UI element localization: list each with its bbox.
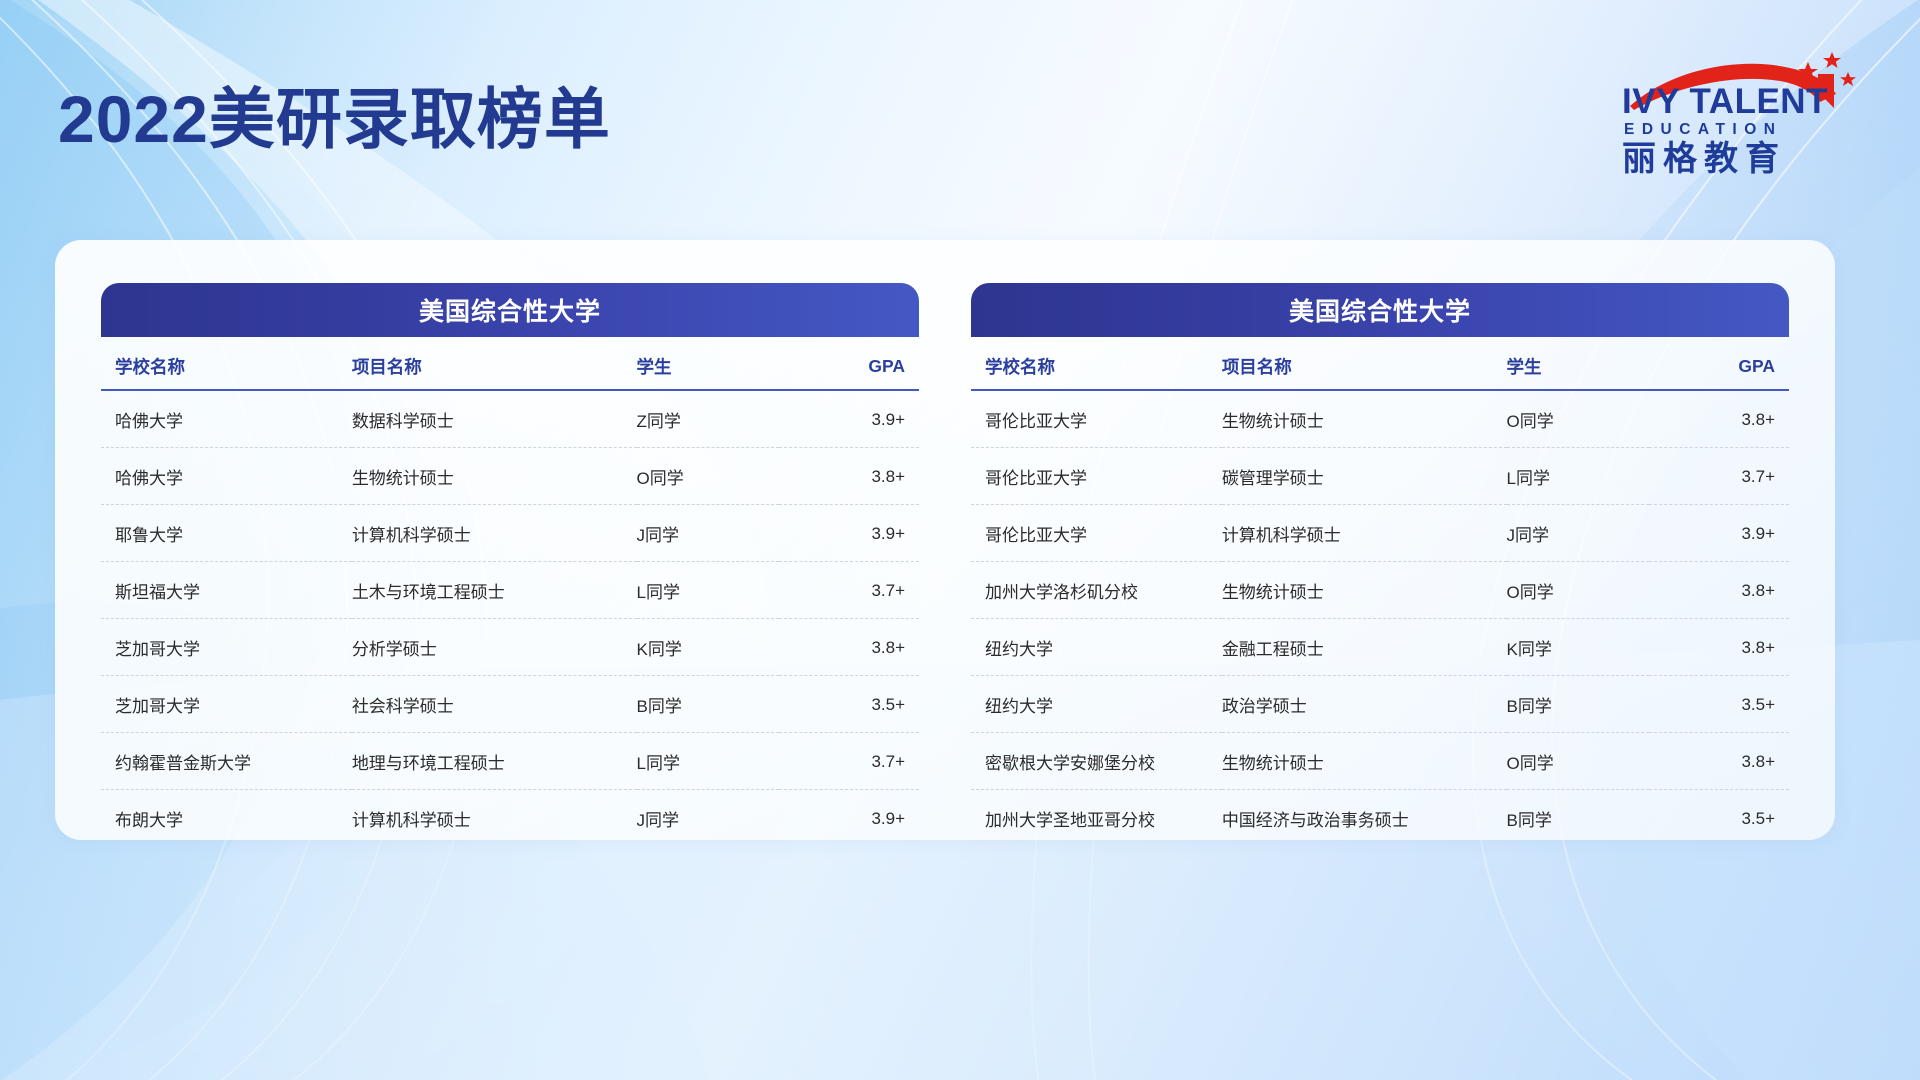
cell-student: J同学 xyxy=(1507,505,1649,562)
cell-gpa: 3.9+ xyxy=(779,790,919,847)
logo-wordmark: IVY TALENT xyxy=(1622,84,1828,119)
cell-program: 生物统计硕士 xyxy=(1222,562,1507,619)
admissions-table-right: 学校名称 项目名称 学生 GPA 哥伦比亚大学 生物统计硕士 O同学 3.8+ … xyxy=(971,337,1789,846)
cell-school: 哥伦比亚大学 xyxy=(971,390,1222,448)
column-header-program: 项目名称 xyxy=(1222,337,1507,390)
brand-logo: IVY TALENT EDUCATION 丽格教育 xyxy=(1622,48,1874,166)
cell-program: 土木与环境工程硕士 xyxy=(352,562,637,619)
cell-student: B同学 xyxy=(637,676,779,733)
cell-student: L同学 xyxy=(1507,448,1649,505)
table-row: 芝加哥大学 分析学硕士 K同学 3.8+ xyxy=(101,619,919,676)
table-header-row: 学校名称 项目名称 学生 GPA xyxy=(101,337,919,390)
cell-student: K同学 xyxy=(637,619,779,676)
cell-program: 计算机科学硕士 xyxy=(352,790,637,847)
table-row: 哈佛大学 生物统计硕士 O同学 3.8+ xyxy=(101,448,919,505)
cell-program: 中国经济与政治事务硕士 xyxy=(1222,790,1507,847)
table-card-right: 美国综合性大学 学校名称 项目名称 学生 GPA 哥伦比亚大学 生物统计硕士 O… xyxy=(971,283,1789,846)
cell-student: O同学 xyxy=(1507,733,1649,790)
cell-gpa: 3.8+ xyxy=(1649,390,1789,448)
table-row: 哥伦比亚大学 碳管理学硕士 L同学 3.7+ xyxy=(971,448,1789,505)
cell-gpa: 3.8+ xyxy=(779,448,919,505)
cell-school: 纽约大学 xyxy=(971,676,1222,733)
cell-student: K同学 xyxy=(1507,619,1649,676)
cell-gpa: 3.7+ xyxy=(1649,448,1789,505)
cell-program: 政治学硕士 xyxy=(1222,676,1507,733)
cell-gpa: 3.9+ xyxy=(779,390,919,448)
cell-gpa: 3.8+ xyxy=(1649,619,1789,676)
cell-program: 分析学硕士 xyxy=(352,619,637,676)
cell-school: 哥伦比亚大学 xyxy=(971,505,1222,562)
cell-program: 数据科学硕士 xyxy=(352,390,637,448)
column-header-student: 学生 xyxy=(637,337,779,390)
cell-school: 密歇根大学安娜堡分校 xyxy=(971,733,1222,790)
page-title: 2022美研录取榜单 xyxy=(58,86,611,152)
cell-school: 加州大学洛杉矶分校 xyxy=(971,562,1222,619)
table-row: 密歇根大学安娜堡分校 生物统计硕士 O同学 3.8+ xyxy=(971,733,1789,790)
cell-school: 约翰霍普金斯大学 xyxy=(101,733,352,790)
cell-school: 哈佛大学 xyxy=(101,390,352,448)
table-heading-left: 美国综合性大学 xyxy=(101,283,919,337)
table-row: 布朗大学 计算机科学硕士 J同学 3.9+ xyxy=(101,790,919,847)
table-row: 芝加哥大学 社会科学硕士 B同学 3.5+ xyxy=(101,676,919,733)
cell-program: 碳管理学硕士 xyxy=(1222,448,1507,505)
cell-program: 生物统计硕士 xyxy=(352,448,637,505)
cell-gpa: 3.5+ xyxy=(1649,676,1789,733)
table-row: 哥伦比亚大学 生物统计硕士 O同学 3.8+ xyxy=(971,390,1789,448)
column-header-program: 项目名称 xyxy=(352,337,637,390)
cell-school: 哈佛大学 xyxy=(101,448,352,505)
cell-gpa: 3.7+ xyxy=(779,562,919,619)
cell-school: 哥伦比亚大学 xyxy=(971,448,1222,505)
admissions-table-left: 学校名称 项目名称 学生 GPA 哈佛大学 数据科学硕士 Z同学 3.9+ 哈佛… xyxy=(101,337,919,846)
cell-school: 加州大学圣地亚哥分校 xyxy=(971,790,1222,847)
cell-gpa: 3.9+ xyxy=(779,505,919,562)
table-header-row: 学校名称 项目名称 学生 GPA xyxy=(971,337,1789,390)
cell-gpa: 3.8+ xyxy=(1649,733,1789,790)
cell-student: O同学 xyxy=(1507,562,1649,619)
cell-gpa: 3.8+ xyxy=(779,619,919,676)
column-header-school: 学校名称 xyxy=(971,337,1222,390)
table-row: 斯坦福大学 土木与环境工程硕士 L同学 3.7+ xyxy=(101,562,919,619)
table-row: 哈佛大学 数据科学硕士 Z同学 3.9+ xyxy=(101,390,919,448)
cell-program: 生物统计硕士 xyxy=(1222,390,1507,448)
table-row: 约翰霍普金斯大学 地理与环境工程硕士 L同学 3.7+ xyxy=(101,733,919,790)
logo-subtitle: EDUCATION xyxy=(1624,122,1783,138)
cell-program: 计算机科学硕士 xyxy=(352,505,637,562)
cell-student: L同学 xyxy=(637,562,779,619)
cell-program: 计算机科学硕士 xyxy=(1222,505,1507,562)
table-row: 纽约大学 政治学硕士 B同学 3.5+ xyxy=(971,676,1789,733)
table-row: 耶鲁大学 计算机科学硕士 J同学 3.9+ xyxy=(101,505,919,562)
cell-school: 芝加哥大学 xyxy=(101,619,352,676)
logo-chinese-name: 丽格教育 xyxy=(1622,142,1786,176)
cell-program: 金融工程硕士 xyxy=(1222,619,1507,676)
table-row: 纽约大学 金融工程硕士 K同学 3.8+ xyxy=(971,619,1789,676)
cell-student: L同学 xyxy=(637,733,779,790)
table-heading-right: 美国综合性大学 xyxy=(971,283,1789,337)
cell-school: 芝加哥大学 xyxy=(101,676,352,733)
cell-student: O同学 xyxy=(637,448,779,505)
cell-school: 布朗大学 xyxy=(101,790,352,847)
cell-student: Z同学 xyxy=(637,390,779,448)
column-header-gpa: GPA xyxy=(1649,337,1789,390)
table-card-left: 美国综合性大学 学校名称 项目名称 学生 GPA 哈佛大学 数据科学硕士 Z同学 xyxy=(101,283,919,846)
cell-gpa: 3.9+ xyxy=(1649,505,1789,562)
table-row: 加州大学圣地亚哥分校 中国经济与政治事务硕士 B同学 3.5+ xyxy=(971,790,1789,847)
cell-student: B同学 xyxy=(1507,790,1649,847)
cell-program: 社会科学硕士 xyxy=(352,676,637,733)
cell-gpa: 3.8+ xyxy=(1649,562,1789,619)
table-row: 哥伦比亚大学 计算机科学硕士 J同学 3.9+ xyxy=(971,505,1789,562)
cell-student: J同学 xyxy=(637,790,779,847)
cell-school: 斯坦福大学 xyxy=(101,562,352,619)
cell-student: B同学 xyxy=(1507,676,1649,733)
table-row: 加州大学洛杉矶分校 生物统计硕士 O同学 3.8+ xyxy=(971,562,1789,619)
column-header-gpa: GPA xyxy=(779,337,919,390)
cell-school: 纽约大学 xyxy=(971,619,1222,676)
cell-student: O同学 xyxy=(1507,390,1649,448)
cell-school: 耶鲁大学 xyxy=(101,505,352,562)
slide-canvas: 2022美研录取榜单 IVY TALENT EDUCATION 丽格教育 美国综… xyxy=(0,0,1920,1080)
tables-container: 美国综合性大学 学校名称 项目名称 学生 GPA 哈佛大学 数据科学硕士 Z同学 xyxy=(55,283,1835,846)
column-header-school: 学校名称 xyxy=(101,337,352,390)
cell-gpa: 3.5+ xyxy=(1649,790,1789,847)
column-header-student: 学生 xyxy=(1507,337,1649,390)
cell-student: J同学 xyxy=(637,505,779,562)
cell-program: 生物统计硕士 xyxy=(1222,733,1507,790)
cell-gpa: 3.7+ xyxy=(779,733,919,790)
cell-gpa: 3.5+ xyxy=(779,676,919,733)
cell-program: 地理与环境工程硕士 xyxy=(352,733,637,790)
